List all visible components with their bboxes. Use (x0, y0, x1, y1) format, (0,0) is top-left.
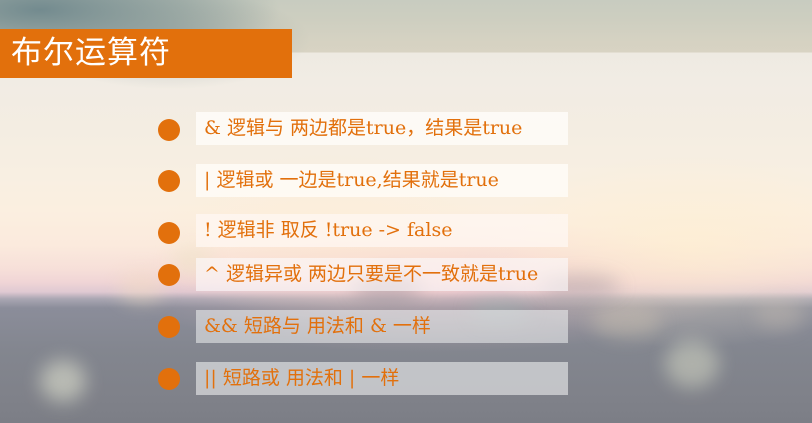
bullet-dot-icon (158, 119, 180, 141)
bullet-item-label: ! 逻辑非 取反 !true -> false (196, 221, 452, 240)
bullet-dot-icon (158, 170, 180, 192)
bullet-text-plate: || 短路或 用法和 | 一样 (196, 362, 568, 395)
bullet-dot-icon (158, 264, 180, 286)
presentation-slide: 布尔运算符 & 逻辑与 两边都是true，结果是true | 逻辑或 一边是tr… (0, 0, 812, 423)
bullet-text-plate: ! 逻辑非 取反 !true -> false (196, 214, 568, 247)
bullet-item-label: & 逻辑与 两边都是true，结果是true (196, 119, 522, 138)
bullet-dot-icon (158, 222, 180, 244)
bullet-text-plate: ^ 逻辑异或 两边只要是不一致就是true (196, 258, 568, 291)
bullet-text-plate: && 短路与 用法和 & 一样 (196, 310, 568, 343)
bullet-item-label: || 短路或 用法和 | 一样 (196, 369, 399, 388)
bullet-list: & 逻辑与 两边都是true，结果是true | 逻辑或 一边是true,结果就… (0, 0, 812, 423)
bullet-item-label: | 逻辑或 一边是true,结果就是true (196, 171, 499, 190)
bullet-dot-icon (158, 368, 180, 390)
bullet-text-plate: & 逻辑与 两边都是true，结果是true (196, 112, 568, 145)
bullet-item-label: && 短路与 用法和 & 一样 (196, 317, 431, 336)
bullet-item-label: ^ 逻辑异或 两边只要是不一致就是true (196, 265, 538, 284)
bullet-text-plate: | 逻辑或 一边是true,结果就是true (196, 164, 568, 197)
bullet-dot-icon (158, 316, 180, 338)
